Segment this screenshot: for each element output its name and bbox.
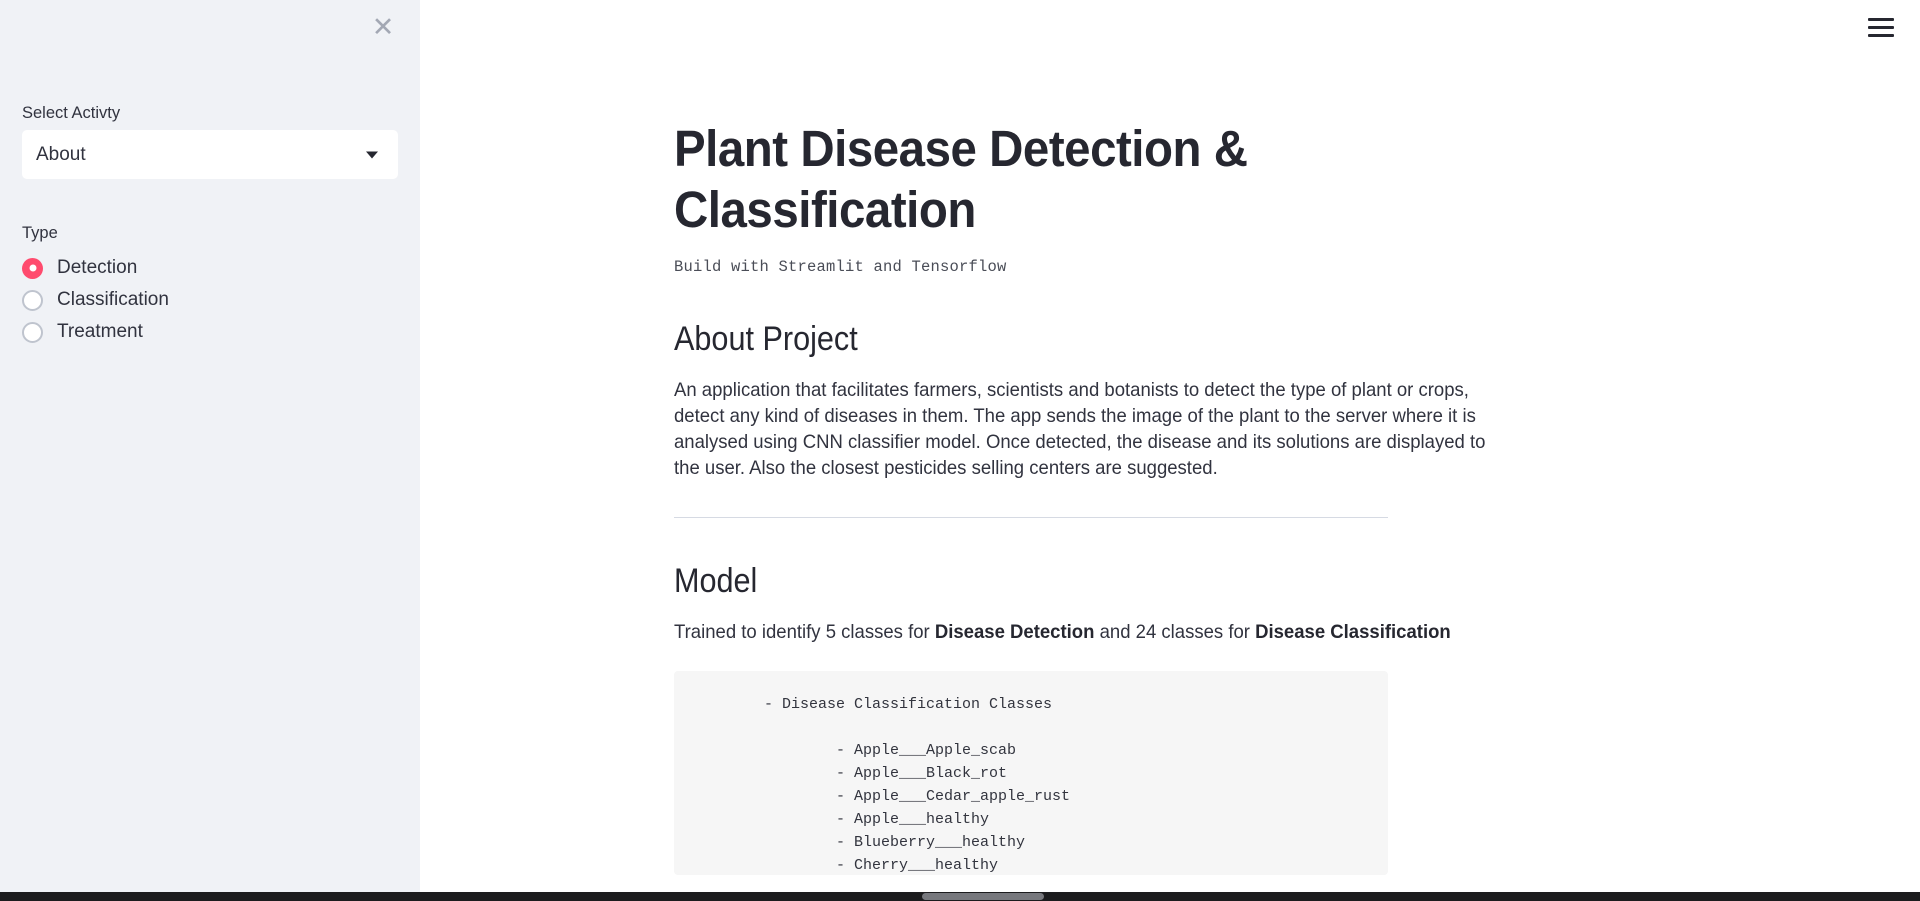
select-activity-value: About	[36, 144, 86, 166]
section-divider	[674, 517, 1388, 518]
code-block: - Disease Classification Classes - Apple…	[674, 671, 1388, 875]
select-activity-group: Select Activty About	[22, 104, 398, 179]
model-intro-bold-detection: Disease Detection	[935, 621, 1095, 643]
hamburger-menu-icon[interactable]	[1868, 18, 1894, 37]
radio-label-classification: Classification	[57, 289, 169, 311]
hamburger-bar	[1868, 34, 1894, 37]
model-heading: Model	[674, 562, 1461, 601]
chevron-down-icon	[366, 151, 378, 158]
select-activity-dropdown[interactable]: About	[22, 130, 398, 179]
radio-label-treatment: Treatment	[57, 321, 143, 343]
model-section: Model Trained to identify 5 classes for …	[674, 562, 1548, 875]
model-intro-prefix: Trained to identify 5 classes for	[674, 621, 935, 643]
model-intro-paragraph: Trained to identify 5 classes for Diseas…	[674, 619, 1504, 645]
about-project-paragraph: An application that facilitates farmers,…	[674, 377, 1504, 481]
radio-label-detection: Detection	[57, 257, 137, 279]
radio-mark-classification	[22, 290, 43, 311]
radio-mark-detection	[22, 258, 43, 279]
close-icon[interactable]: ✕	[368, 14, 398, 44]
code-block-text: - Disease Classification Classes - Apple…	[692, 693, 1370, 875]
model-intro-bold-classification: Disease Classification	[1255, 621, 1451, 643]
content-column: Plant Disease Detection & Classification…	[674, 0, 1548, 875]
radio-option-treatment[interactable]: Treatment	[22, 316, 398, 348]
select-activity-label: Select Activty	[22, 104, 398, 123]
hamburger-bar	[1868, 26, 1894, 29]
radio-option-detection[interactable]: Detection	[22, 252, 398, 284]
page-subtitle: Build with Streamlit and Tensorflow	[674, 258, 1548, 276]
horizontal-scrollbar-thumb[interactable]	[922, 893, 1044, 900]
about-project-heading: About Project	[674, 320, 1461, 359]
sidebar: ✕ Select Activty About Type Detection Cl…	[0, 0, 420, 901]
radio-mark-treatment	[22, 322, 43, 343]
page-title: Plant Disease Detection & Classification	[674, 118, 1487, 240]
radio-option-classification[interactable]: Classification	[22, 284, 398, 316]
hamburger-bar	[1868, 18, 1894, 21]
streamlit-app: ✕ Select Activty About Type Detection Cl…	[0, 0, 1920, 901]
type-radio-group: Type Detection Classification Treatment	[22, 224, 398, 348]
horizontal-scrollbar[interactable]	[0, 892, 1920, 901]
main-content: Plant Disease Detection & Classification…	[420, 0, 1920, 901]
model-intro-middle: and 24 classes for	[1094, 621, 1255, 643]
type-label: Type	[22, 224, 398, 243]
